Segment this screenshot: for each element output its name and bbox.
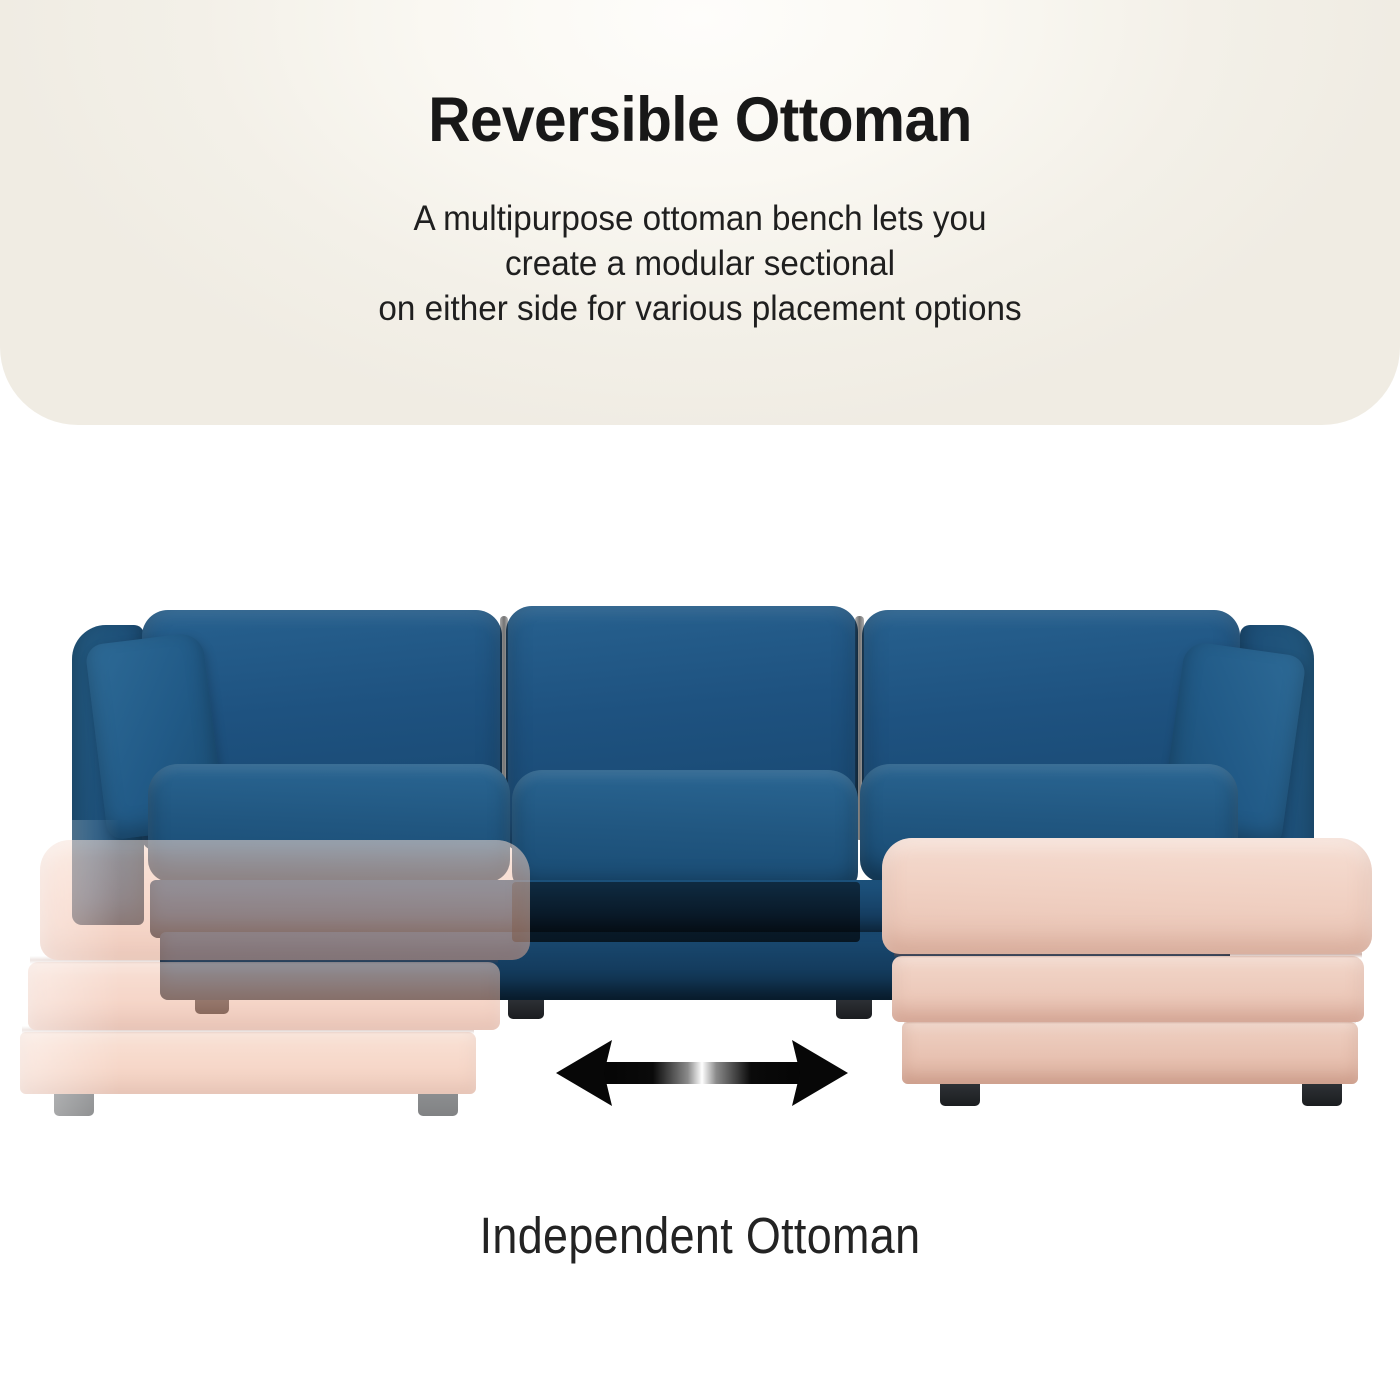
ottoman-left-base (20, 1032, 476, 1094)
header-inner: Reversible Ottoman A multipurpose ottoma… (0, 0, 1400, 425)
ottoman-left (14, 820, 534, 1120)
ottoman-left-mid-band (28, 962, 500, 1030)
page-title: Reversible Ottoman (49, 84, 1351, 156)
sofa-under-shadow (512, 882, 860, 942)
product-image-stage (0, 430, 1400, 1220)
reversible-direction-arrow (556, 1030, 848, 1116)
page-subtitle: A multipurpose ottoman bench lets you cr… (35, 196, 1365, 331)
caption-independent-ottoman: Independent Ottoman (84, 1206, 1316, 1265)
ottoman-right-top-cushion (882, 838, 1372, 954)
ottoman-right-mid-band (892, 956, 1364, 1022)
sofa-seat-cushion-center (512, 770, 858, 894)
ottoman-right-base (902, 1022, 1358, 1084)
header-panel: Reversible Ottoman A multipurpose ottoma… (0, 0, 1400, 425)
double-arrow-icon (556, 1030, 848, 1116)
ottoman-left-top-cushion (40, 840, 530, 960)
ottoman-right (866, 820, 1386, 1110)
